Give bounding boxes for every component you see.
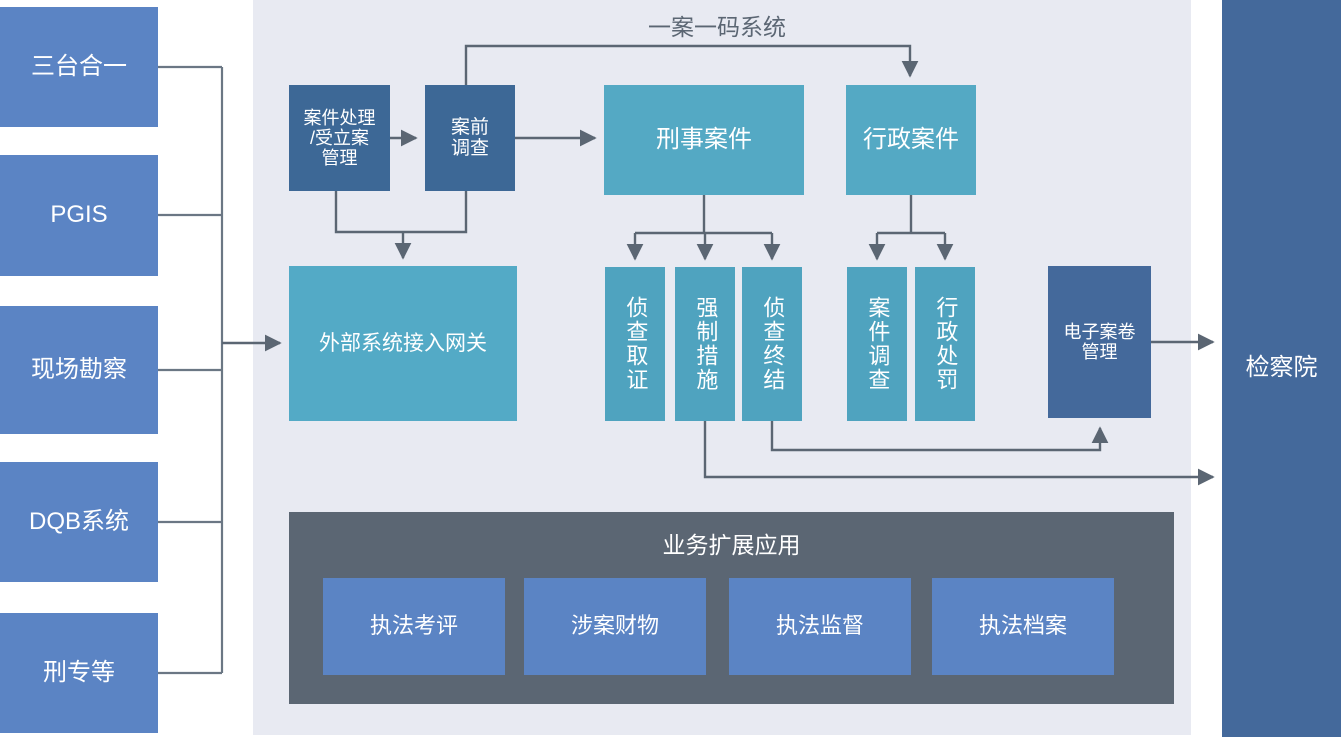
extension-item-enforcement-evaluation[interactable]: 执法考评 bbox=[323, 578, 505, 675]
external-procuratorate-label: 检察院 bbox=[1246, 355, 1318, 382]
flow-box-pre-case-investigation[interactable]: 案前 调查 bbox=[425, 85, 515, 191]
external-system-gateway-box[interactable]: 外部系统接入网关 bbox=[289, 266, 517, 421]
source-box-xianchangkancha[interactable]: 现场勘察 bbox=[0, 306, 158, 434]
system-title: 一案一码系统 bbox=[648, 8, 786, 42]
extension-item-enforcement-supervision[interactable]: 执法监督 bbox=[729, 578, 911, 675]
source-box-santaiheyi[interactable]: 三台合一 bbox=[0, 7, 158, 127]
source-box-xingzhuandeng[interactable]: 刑专等 bbox=[0, 613, 158, 733]
criminal-child-coercive-measures[interactable]: 强制措施 bbox=[675, 267, 735, 421]
flow-box-criminal-case[interactable]: 刑事案件 bbox=[604, 85, 804, 195]
electronic-case-file-box[interactable]: 电子案卷 管理 bbox=[1048, 266, 1151, 418]
extension-item-case-property[interactable]: 涉案财物 bbox=[524, 578, 706, 675]
source-box-dqb[interactable]: DQB系统 bbox=[0, 462, 158, 582]
extension-item-enforcement-archive[interactable]: 执法档案 bbox=[932, 578, 1114, 675]
flow-box-administrative-case[interactable]: 行政案件 bbox=[846, 85, 976, 195]
connector-sources-bus bbox=[158, 67, 222, 673]
flow-box-case-handling[interactable]: 案件处理 /受立案 管理 bbox=[289, 85, 390, 191]
criminal-child-investigation-conclusion[interactable]: 侦查终结 bbox=[742, 267, 802, 421]
administrative-child-penalty[interactable]: 行政处罚 bbox=[915, 267, 975, 421]
administrative-child-case-investigation[interactable]: 案件调查 bbox=[847, 267, 907, 421]
criminal-child-evidence-collection[interactable]: 侦查取证 bbox=[605, 267, 665, 421]
diagram-canvas: 三台合一 PGIS 现场勘察 DQB系统 刑专等 一案一码系统 案件处理 /受立… bbox=[0, 0, 1341, 737]
external-procuratorate-box[interactable]: 检察院 bbox=[1222, 0, 1341, 737]
extension-panel-title: 业务扩展应用 bbox=[289, 526, 1174, 560]
source-box-pgis[interactable]: PGIS bbox=[0, 155, 158, 276]
